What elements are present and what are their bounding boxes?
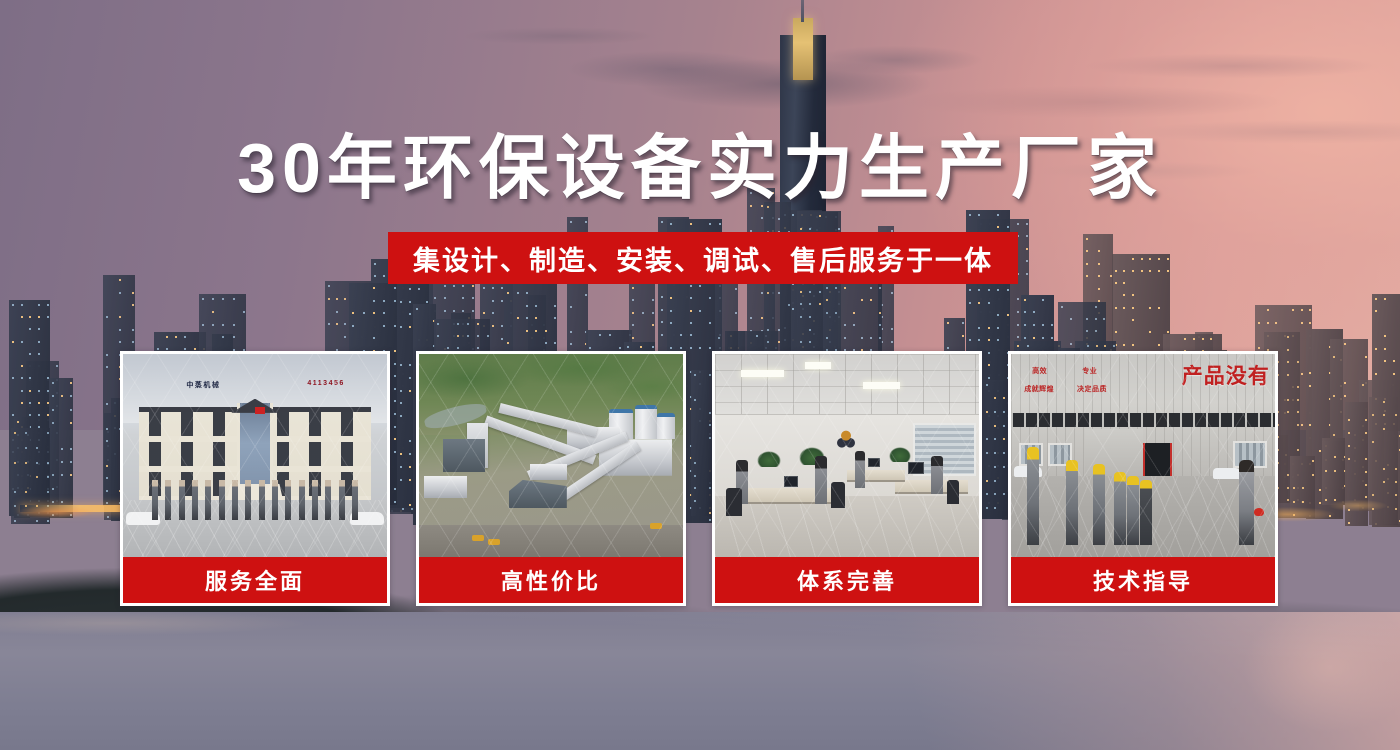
water-highlights (0, 612, 1400, 750)
feature-card-row: 中蒸机械 4113456 服务全面 (120, 351, 1280, 606)
factory-slogan-small-1: 专业 (1082, 366, 1097, 376)
wall-decal (831, 427, 861, 451)
page-title: 30年环保设备实力生产厂家 (0, 131, 1400, 205)
card-label-value: 高性价比 (419, 557, 683, 603)
factory-slogan-small-2: 高效 (1032, 366, 1047, 376)
flag-icon (255, 407, 265, 414)
card-label-guidance: 技术指导 (1011, 557, 1275, 603)
factory-slogan-small-4: 成就辉煌 (1024, 384, 1054, 394)
office-interior-photo (715, 354, 979, 557)
feature-card-system[interactable]: 体系完善 (712, 351, 982, 606)
company-phone-text: 4113456 (307, 380, 344, 387)
factory-slogan-small-3: 决定品质 (1077, 384, 1107, 394)
promotional-banner: 30年环保设备实力生产厂家 集设计、制造、安装、调试、售后服务于一体 中蒸机械 (0, 0, 1400, 750)
feature-card-guidance[interactable]: 产品没有 专业 高效 决定品质 成就辉煌 (1008, 351, 1278, 606)
tower-spire (801, 0, 804, 22)
company-sign-text: 中蒸机械 (186, 380, 220, 390)
subtitle-banner: 集设计、制造、安装、调试、售后服务于一体 (388, 232, 1018, 284)
company-headquarters-photo: 中蒸机械 4113456 (123, 354, 387, 557)
workshop-workers-photo: 产品没有 专业 高效 决定品质 成就辉煌 (1011, 354, 1275, 557)
card-label-system: 体系完善 (715, 557, 979, 603)
card-label-service: 服务全面 (123, 557, 387, 603)
feature-card-service[interactable]: 中蒸机械 4113456 服务全面 (120, 351, 390, 606)
feature-card-value[interactable]: 高性价比 (416, 351, 686, 606)
tower-crown-light (793, 18, 813, 80)
subtitle-text: 集设计、制造、安装、调试、售后服务于一体 (413, 239, 993, 278)
industrial-plant-aerial-photo (419, 354, 683, 557)
factory-slogan-large: 产品没有 (1182, 360, 1270, 390)
